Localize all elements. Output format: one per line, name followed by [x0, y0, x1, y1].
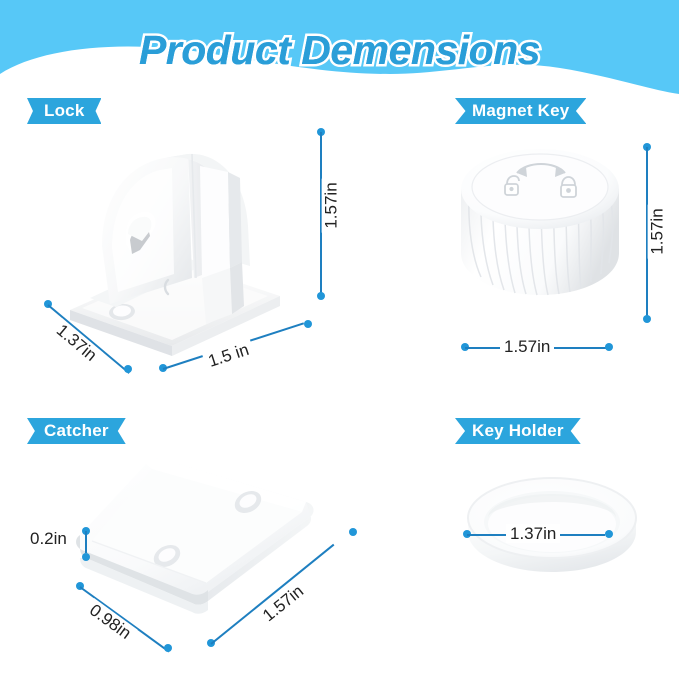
dim-dot [605, 530, 613, 538]
page-title: Product Demensions [0, 27, 679, 74]
lock-product-image [60, 128, 290, 358]
section-label-lock: Lock [27, 98, 101, 124]
dim-dot [164, 644, 172, 652]
dim-dot [124, 365, 132, 373]
magnet-key-product-image [455, 135, 625, 315]
magnet-key-diameter-value: 1.57in [500, 337, 554, 356]
section-label-magnet-key-text: Magnet Key [472, 101, 569, 121]
product-dimensions-infographic: Product Demensions Product Demensions Lo… [0, 0, 679, 679]
section-label-magnet-key: Magnet Key [455, 98, 586, 124]
section-label-key-holder-text: Key Holder [472, 421, 564, 441]
magnet-key-height-value: 1.57in [648, 204, 667, 258]
lock-height-value: 1.57in [322, 178, 341, 232]
section-label-catcher: Catcher [27, 418, 126, 444]
dim-dot [605, 343, 613, 351]
dim-dot [82, 553, 90, 561]
dim-dot [349, 528, 357, 536]
key-holder-diameter-value: 1.37in [506, 524, 560, 543]
catcher-product-image [70, 440, 360, 630]
dim-dot [317, 292, 325, 300]
section-label-catcher-text: Catcher [44, 421, 109, 441]
section-label-lock-text: Lock [44, 101, 84, 121]
section-label-key-holder: Key Holder [455, 418, 581, 444]
catcher-thickness-value: 0.2in [26, 529, 71, 548]
dim-dot [643, 315, 651, 323]
dim-line [85, 531, 87, 553]
dim-dot [304, 320, 312, 328]
